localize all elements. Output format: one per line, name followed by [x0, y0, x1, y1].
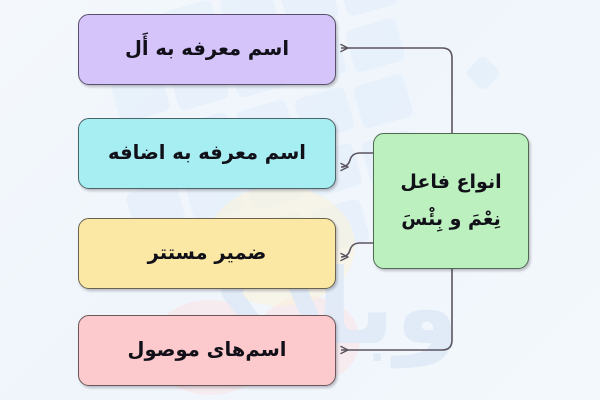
branch-node-esm-marefe-be-al[interactable]: اسم معرفه به أَل — [78, 14, 336, 85]
watermark-diamond — [465, 55, 502, 92]
branch-node-esm-marefe-be-ezafe[interactable]: اسم معرفه به اضافه — [78, 118, 336, 189]
branch-node-esmhaye-mosul[interactable]: اسم‌های موصول — [78, 315, 336, 386]
branch-node-label: اسم معرفه به اضافه — [108, 139, 306, 167]
connector-root-to-branch-4 — [341, 269, 452, 350]
connector-root-to-branch-1 — [341, 48, 452, 133]
root-node-subtitle: نِعْمَ و بِئْسَ — [401, 206, 501, 234]
diagram-canvas: وبلاگ اسم معرفه به أَل اسم معرفه به اضاف… — [0, 0, 600, 400]
root-node-anvae-fael[interactable]: انواع فاعل نِعْمَ و بِئْسَ — [373, 133, 529, 269]
branch-node-label: ضمیر مستتر — [148, 239, 267, 267]
branch-node-zamir-mostatar[interactable]: ضمیر مستتر — [78, 218, 336, 289]
connector-root-to-branch-3 — [341, 243, 373, 257]
branch-node-label: اسم معرفه به أَل — [125, 35, 289, 63]
connector-root-to-branch-2 — [341, 153, 373, 167]
branch-node-label: اسم‌های موصول — [128, 336, 287, 364]
root-node-title: انواع فاعل — [400, 169, 501, 197]
